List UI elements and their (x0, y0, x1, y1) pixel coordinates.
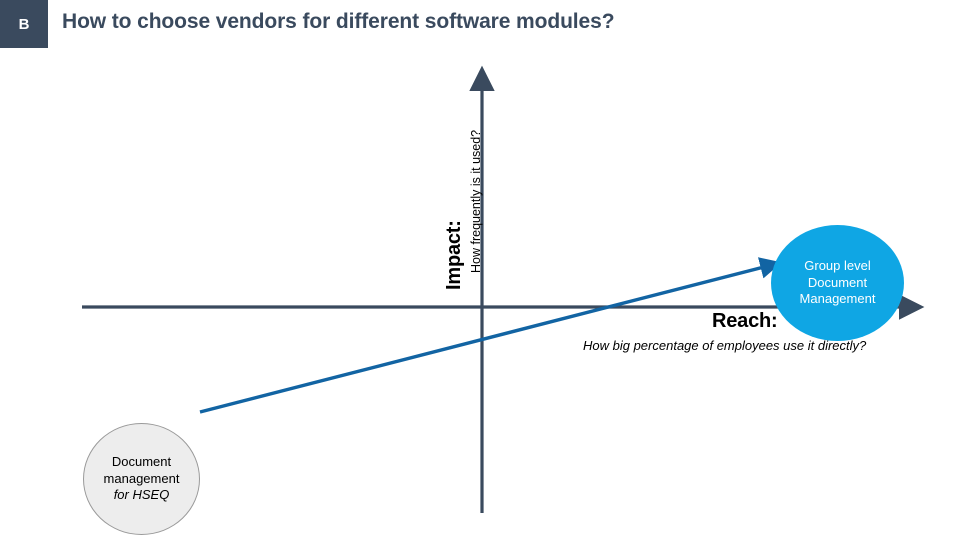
node-label-line: management (104, 471, 180, 488)
node-label-line: Management (800, 291, 876, 307)
x-axis-subtitle: How big percentage of employees use it d… (583, 338, 866, 353)
quadrant-chart: Impact: How frequently is it used? Reach… (0, 48, 960, 540)
node-label-line: Group level (804, 258, 870, 274)
y-axis-title: Impact: (444, 220, 464, 290)
x-axis-title-text: Reach: (712, 310, 778, 332)
node-label-line: Document (112, 454, 171, 471)
node-label-line: Document (808, 275, 867, 291)
y-axis-subtitle: How frequently is it used? (470, 130, 483, 273)
slide-badge-letter: B (19, 17, 30, 32)
node-document-management-hseq[interactable]: Document management for HSEQ (83, 423, 200, 535)
node-label-line-italic: for HSEQ (114, 487, 170, 504)
node-group-level-document-management[interactable]: Group level Document Management (771, 225, 904, 341)
x-axis-title: Reach: (712, 310, 778, 333)
slide-canvas: B How to choose vendors for different so… (0, 0, 960, 540)
page-title: How to choose vendors for different soft… (62, 10, 922, 34)
slide-badge: B (0, 0, 48, 48)
